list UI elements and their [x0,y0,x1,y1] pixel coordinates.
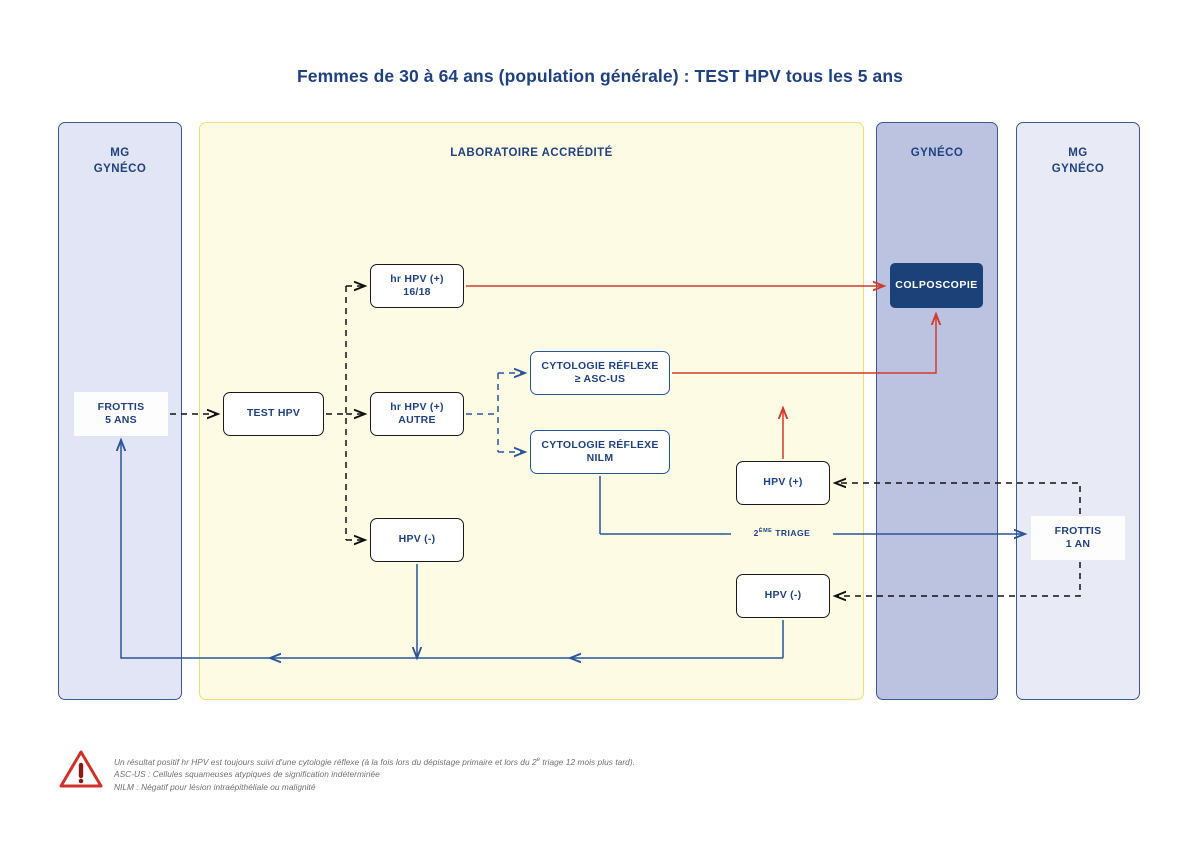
node-frottis-5-ans[interactable]: FROTTIS 5 ANS [74,392,168,436]
node-label-line2: NILM [541,452,658,466]
node-label-line2: 5 ANS [98,414,145,428]
node-cytologie-reflexe-ascus[interactable]: CYTOLOGIE RÉFLEXE ≥ ASC-US [530,351,670,395]
node-test-hpv[interactable]: TEST HPV [223,392,324,436]
node-label: TEST HPV [247,407,300,421]
node-cytologie-reflexe-nilm[interactable]: CYTOLOGIE RÉFLEXE NILM [530,430,670,474]
node-label-line1: CYTOLOGIE RÉFLEXE [541,360,658,374]
node-label-line2: AUTRE [390,414,444,428]
edge-label-second-triage: 2ÈME TRIAGE [731,528,833,538]
node-colposcopie[interactable]: COLPOSCOPIE [890,263,983,308]
edge-frottis1an-to-hpvpos [835,483,1080,514]
node-frottis-1-an[interactable]: FROTTIS 1 AN [1031,516,1125,560]
node-label-line2: 1 AN [1055,538,1102,552]
connector-layer [0,0,1200,849]
node-label-line2: ≥ ASC-US [541,373,658,387]
node-label-line1: FROTTIS [98,401,145,415]
node-hr-hpv-pos-autre[interactable]: hr HPV (+) AUTRE [370,392,464,436]
node-hr-hpv-pos-16-18[interactable]: hr HPV (+) 16/18 [370,264,464,308]
node-label-line1: hr HPV (+) [390,401,444,415]
edge-frottis1an-to-hpvneg [835,562,1080,596]
node-label-line1: FROTTIS [1055,525,1102,539]
node-label: HPV (+) [763,476,802,490]
node-hpv-neg-gyneco[interactable]: HPV (-) [736,574,830,618]
node-label-line1: CYTOLOGIE RÉFLEXE [541,439,658,453]
node-label: COLPOSCOPIE [895,279,978,293]
node-hpv-neg-lab[interactable]: HPV (-) [370,518,464,562]
node-label: HPV (-) [765,589,802,603]
edge-cyto-ascus-to-colposcopie [672,314,936,373]
edge-label-superscript: ÈME [759,528,772,534]
node-label: HPV (-) [399,533,436,547]
node-label-line2: 16/18 [390,286,444,300]
node-hpv-pos-gyneco[interactable]: HPV (+) [736,461,830,505]
edge-label-text: TRIAGE [772,528,810,538]
node-label-line1: hr HPV (+) [390,273,444,287]
edge-return-bus-to-frottis5 [121,440,270,658]
